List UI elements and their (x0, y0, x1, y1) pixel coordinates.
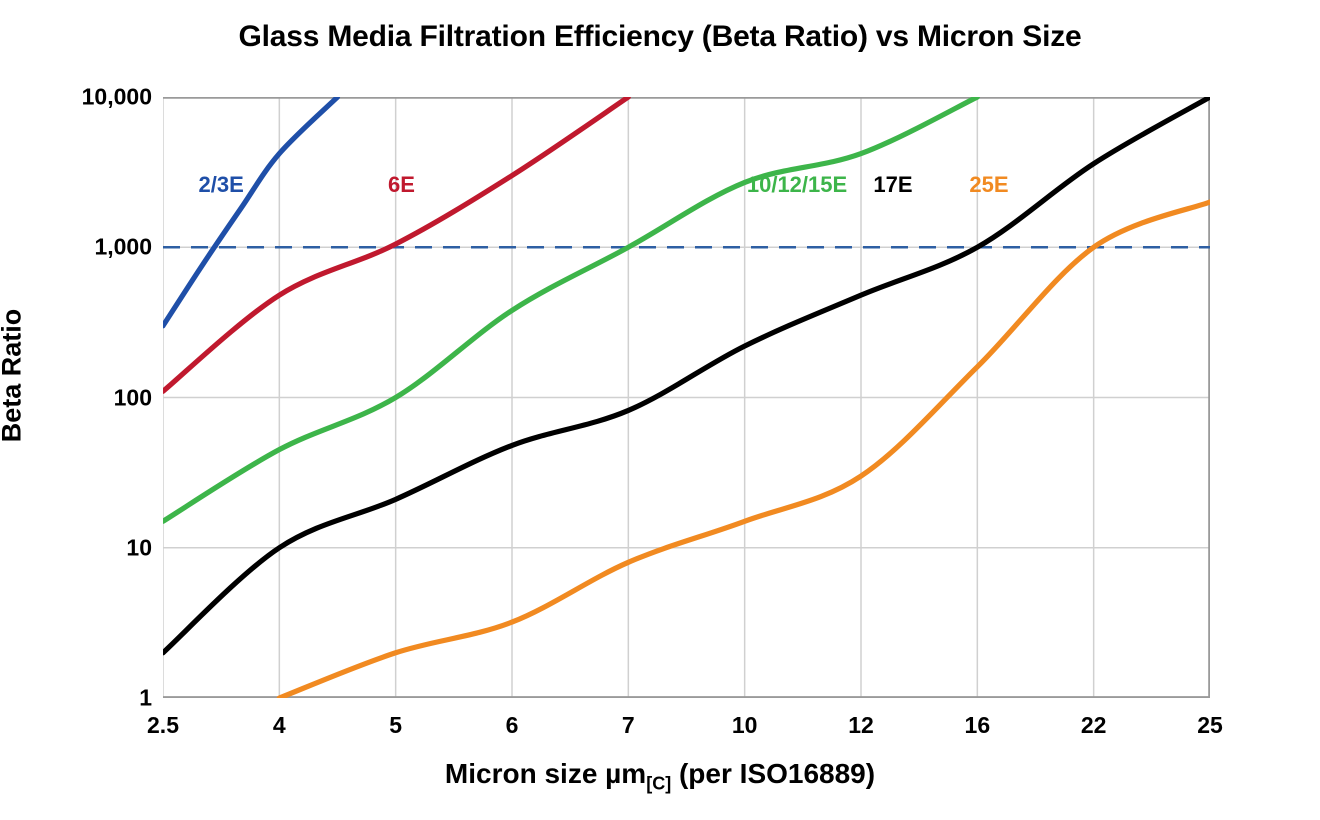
x-tick-label: 6 (506, 712, 519, 739)
series-label-10-12-15E: 10/12/15E (747, 172, 847, 198)
x-tick-label: 22 (1081, 712, 1107, 739)
y-tick-label: 1 (139, 685, 152, 712)
y-axis-title: Beta Ratio (0, 216, 28, 536)
chart-page: Glass Media Filtration Efficiency (Beta … (0, 0, 1320, 820)
series-label-2-3E: 2/3E (199, 172, 244, 198)
x-tick-label: 25 (1197, 712, 1223, 739)
y-tick-label: 10,000 (82, 84, 152, 111)
y-tick-label: 1,000 (94, 234, 152, 261)
x-axis-title: Micron size µm[C] (per ISO16889) (0, 758, 1320, 795)
x-tick-label: 12 (848, 712, 874, 739)
x-axis-title-tail: (per ISO16889) (671, 758, 875, 789)
x-tick-label: 4 (273, 712, 286, 739)
x-axis-title-main: Micron size µm (445, 758, 646, 789)
y-tick-label: 100 (114, 384, 152, 411)
x-tick-label: 5 (389, 712, 402, 739)
series-line-2-3E (163, 97, 338, 326)
series-line-17E (163, 97, 1210, 653)
x-tick-label: 16 (965, 712, 991, 739)
chart-svg (163, 97, 1210, 698)
series-label-17E: 17E (873, 172, 912, 198)
y-tick-label: 10 (126, 534, 152, 561)
series-label-25E: 25E (969, 172, 1008, 198)
series-line-10-12-15E (163, 97, 977, 521)
series-label-6E: 6E (388, 172, 415, 198)
x-axis-title-subscript: [C] (646, 774, 671, 794)
x-tick-label: 7 (622, 712, 635, 739)
page-title: Glass Media Filtration Efficiency (Beta … (0, 20, 1320, 54)
plot-area: 2/3E6E10/12/15E17E25E (163, 97, 1210, 698)
x-axis-tick-labels: 2.545671012162225 (163, 712, 1210, 756)
x-tick-label: 10 (732, 712, 758, 739)
x-tick-label: 2.5 (147, 712, 179, 739)
